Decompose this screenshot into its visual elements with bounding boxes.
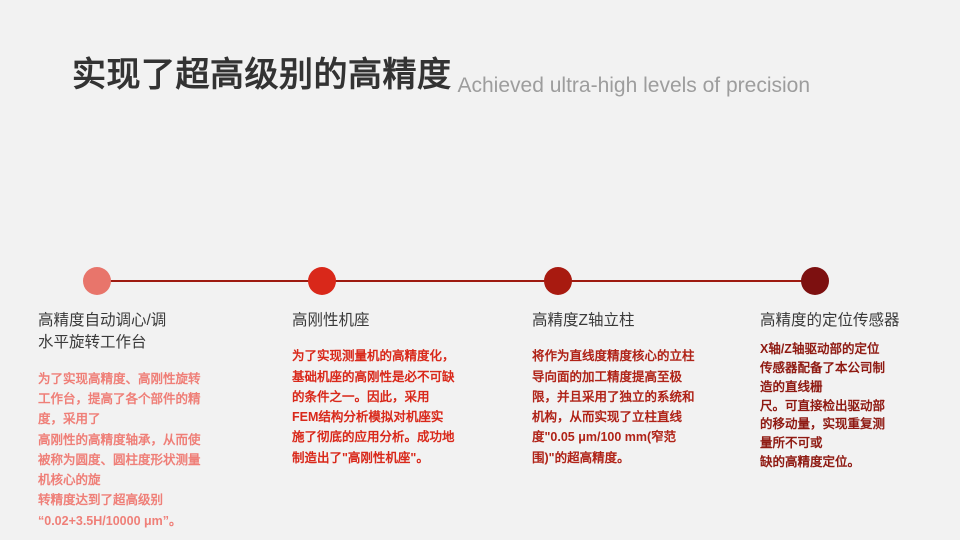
timeline-node-2 <box>308 267 336 295</box>
timeline-axis <box>97 280 815 282</box>
timeline-item-2: 高刚性机座 为了实现测量机的高精度化， 基础机座的高刚性是必不可缺 的条件之一。… <box>292 310 510 468</box>
slide-canvas: 实现了超高级别的高精度 Achieved ultra-high levels o… <box>0 0 960 540</box>
slide-header: 实现了超高级别的高精度 Achieved ultra-high levels o… <box>72 58 952 118</box>
timeline-item-1: 高精度自动调心/调 水平旋转工作台 为了实现高精度、高刚性旋转 工作台，提高了各… <box>38 310 253 531</box>
timeline-item-4-heading: 高精度的定位传感器 <box>760 310 956 332</box>
timeline-item-3-body: 将作为直线度精度核心的立柱 导向面的加工精度提高至极 限，并且采用了独立的系统和… <box>532 346 742 468</box>
timeline-node-3 <box>544 267 572 295</box>
timeline-item-3-heading: 高精度Z轴立柱 <box>532 310 742 332</box>
timeline-node-4 <box>801 267 829 295</box>
timeline-item-2-heading: 高刚性机座 <box>292 310 510 332</box>
timeline-item-1-heading: 高精度自动调心/调 水平旋转工作台 <box>38 310 253 355</box>
page-title: 实现了超高级别的高精度 <box>72 58 452 92</box>
timeline-item-4: 高精度的定位传感器 X轴/Z轴驱动部的定位 传感器配备了本公司制 造的直线栅 尺… <box>760 310 956 472</box>
timeline-item-2-body: 为了实现测量机的高精度化， 基础机座的高刚性是必不可缺 的条件之一。因此，采用 … <box>292 346 510 468</box>
timeline-node-1 <box>83 267 111 295</box>
timeline-item-4-body: X轴/Z轴驱动部的定位 传感器配备了本公司制 造的直线栅 尺。可直接检出驱动部 … <box>760 340 956 471</box>
timeline-item-3: 高精度Z轴立柱 将作为直线度精度核心的立柱 导向面的加工精度提高至极 限，并且采… <box>532 310 742 468</box>
timeline-item-1-body: 为了实现高精度、高刚性旋转 工作台，提高了各个部件的精 度，采用了 高刚性的高精… <box>38 369 253 531</box>
page-subtitle: Achieved ultra-high levels of precision <box>458 75 811 96</box>
